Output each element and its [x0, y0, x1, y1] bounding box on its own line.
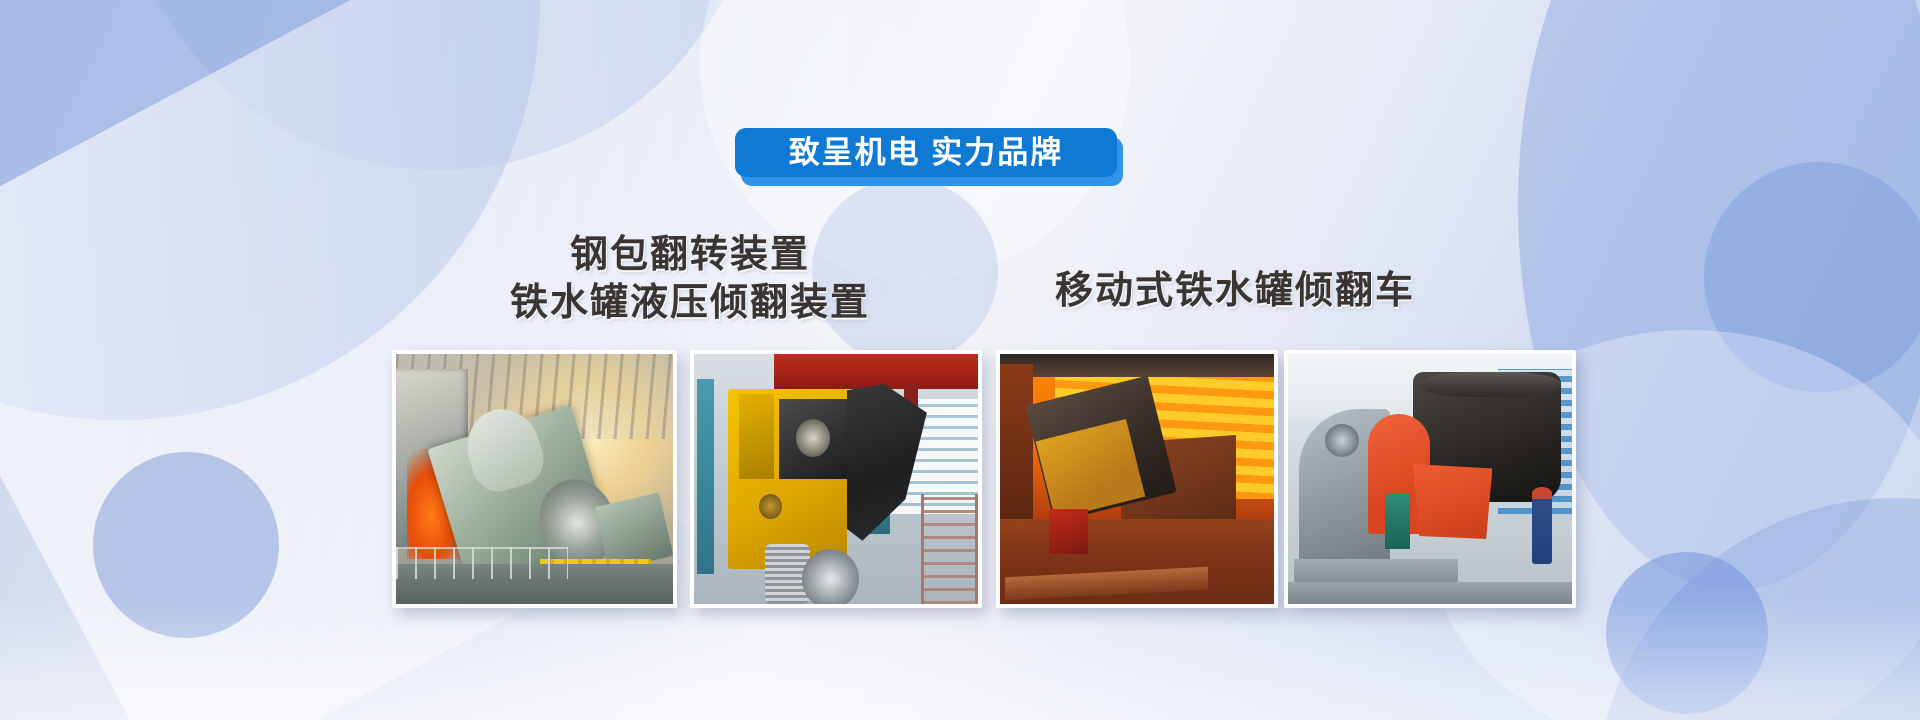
product-heading-right: 移动式铁水罐倾翻车: [1055, 268, 1415, 316]
brand-slogan-badge-body: 致呈机电 实力品牌: [735, 128, 1117, 177]
product-photo-1[interactable]: [392, 350, 677, 608]
product-heading-left-line-1: 钢包翻转装置: [480, 232, 900, 280]
product-heading-left: 钢包翻转装置 铁水罐液压倾翻装置: [480, 232, 900, 328]
brand-slogan-badge: 致呈机电 实力品牌: [735, 128, 1123, 186]
promo-banner: 致呈机电 实力品牌 钢包翻转装置 铁水罐液压倾翻装置 移动式铁水罐倾翻车: [0, 0, 1920, 720]
product-photo-4-image: [1288, 354, 1572, 604]
brand-slogan-text: 致呈机电 实力品牌: [789, 137, 1064, 168]
product-photo-2[interactable]: [690, 350, 982, 608]
decor-circle-top-left-small: [120, 0, 760, 170]
product-heading-left-line-2: 铁水罐液压倾翻装置: [480, 280, 900, 328]
product-photo-3[interactable]: [996, 350, 1278, 608]
product-photo-2-image: [694, 354, 978, 604]
product-photo-4[interactable]: [1284, 350, 1576, 608]
product-photo-strip: [0, 350, 1920, 620]
product-photo-3-image: [1000, 354, 1274, 604]
product-heading-right-line-1: 移动式铁水罐倾翻车: [1055, 270, 1415, 312]
product-photo-1-image: [396, 354, 673, 604]
